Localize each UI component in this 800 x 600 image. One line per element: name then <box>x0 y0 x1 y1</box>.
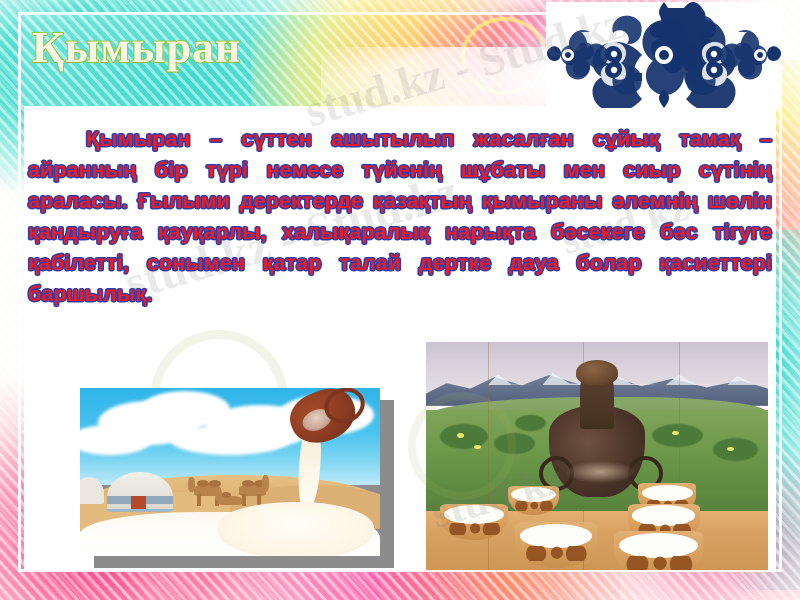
photo-bowl-ornament <box>521 546 590 562</box>
photo-bowl-ornament <box>621 556 696 570</box>
photo-milk-bowl <box>508 486 559 516</box>
photo-bush <box>652 424 703 447</box>
body-paragraph: Қымыран – сүттен ашытылып жасалған сұйық… <box>28 124 772 310</box>
photo-camel-hump <box>221 492 231 498</box>
photo-bowl-ornament <box>512 501 555 511</box>
photo-camel-neck <box>262 475 269 492</box>
photo-bowl-milk <box>511 487 556 502</box>
photo-milk-pool <box>218 502 374 556</box>
left-photo-desert-milk <box>80 388 380 556</box>
right-photo-qymyran-bowls <box>426 342 768 570</box>
photo-bush <box>515 415 546 431</box>
kazakh-floral-ornament-icon <box>546 2 782 108</box>
photo-flower <box>474 445 481 450</box>
photo-bush <box>494 433 535 454</box>
photo-vessel-cap <box>576 360 617 385</box>
photo-yurt-door <box>131 496 146 509</box>
photo-milk-bowl <box>515 522 597 568</box>
photo-bowl-milk <box>632 505 695 525</box>
photo-bush <box>713 438 757 461</box>
photo-camel-leg <box>242 494 246 506</box>
photo-cloud <box>170 425 290 455</box>
photo-bowl-ornament <box>445 523 502 535</box>
photo-flower <box>457 433 464 438</box>
photo-bowl-milk <box>619 533 697 558</box>
photo-camel-leg <box>197 494 201 506</box>
photo-vessel-neck <box>580 378 614 428</box>
photo-camel-neck <box>215 489 222 501</box>
photo-milk-bowl <box>614 531 703 570</box>
page-title: Қымыран <box>32 22 241 73</box>
photo-bowl-milk <box>520 524 592 548</box>
presentation-slide: Қымыран <box>0 0 800 600</box>
photo-milk-bowl <box>440 504 508 540</box>
photo-camel-neck <box>188 477 195 492</box>
photo-vessel-pattern <box>566 461 634 484</box>
photo-bowl-milk <box>642 485 693 502</box>
photo-bowl-milk <box>444 505 504 524</box>
